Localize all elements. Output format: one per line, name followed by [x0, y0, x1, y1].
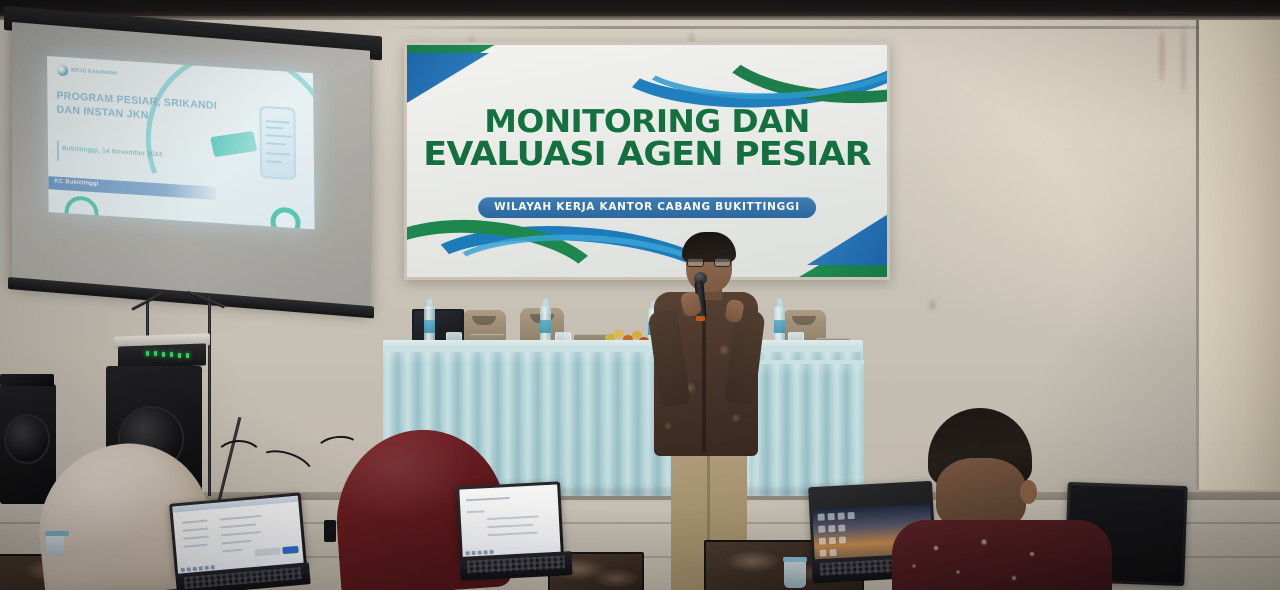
seminar-room-photo: BPJS Kesehatan PROGRAM PESIAR, SRIKANDI … [0, 0, 1280, 590]
slide-logo-mark-icon [57, 65, 68, 77]
wall-seam-line [380, 26, 1280, 29]
pa-speaker-horn [0, 374, 54, 386]
presentation-slide: BPJS Kesehatan PROGRAM PESIAR, SRIKANDI … [47, 56, 315, 229]
laptop-left-button-primary [282, 546, 299, 554]
presenter-shirt-placket [702, 300, 706, 452]
mixer-led [154, 351, 157, 356]
banner-title-line2: EVALUASI AGEN PESIAR [407, 138, 887, 171]
man-ear [1020, 480, 1037, 504]
drink-cup [784, 560, 806, 588]
pa-speaker-cone-left [4, 414, 50, 464]
man-batik-shirt [892, 520, 1112, 590]
eyeglasses-icon [687, 258, 731, 267]
cup-lid [783, 557, 807, 562]
head-table-skirt-right [752, 360, 864, 496]
slide-phone-illustration [259, 106, 296, 180]
mobile-phone [324, 520, 336, 542]
slide-subtitle-accent-bar [57, 141, 59, 161]
right-wall-panel [1199, 20, 1280, 490]
wall-mark [1160, 30, 1164, 82]
cup-lid [45, 531, 69, 536]
drink-cup-left [46, 534, 64, 556]
mixer-led [170, 352, 173, 357]
man-back-view [900, 408, 1096, 590]
laptop-center-keyboard [466, 556, 565, 574]
mixer-led [186, 353, 189, 358]
banner-corner-blue-bottomright [807, 211, 887, 265]
mixer-led [146, 351, 149, 356]
event-banner: MONITORING DAN EVALUASI AGEN PESIAR WILA… [404, 42, 890, 280]
laptop-left-screen [172, 496, 303, 575]
mixer-led [178, 353, 181, 358]
banner-corner-blue-topleft [407, 53, 489, 109]
wall-mark [930, 300, 935, 310]
laptop-center-screen [459, 484, 560, 557]
wall-corner-edge [1196, 20, 1199, 490]
wall-mark [1182, 24, 1185, 94]
banner-subtitle-pill: WILAYAH KERJA KANTOR CABANG BUKITTINGGI [478, 197, 816, 218]
mixer-led [162, 352, 165, 357]
banner-canvas: MONITORING DAN EVALUASI AGEN PESIAR WILA… [407, 45, 887, 277]
microphone-band [696, 316, 705, 321]
banner-title: MONITORING DAN EVALUASI AGEN PESIAR [407, 107, 887, 170]
mic-stand-pole-tall [208, 296, 211, 496]
slide-logo: BPJS Kesehatan [57, 65, 118, 80]
slide-logo-text: BPJS Kesehatan [71, 68, 118, 78]
laptop-left-button-secondary [254, 547, 281, 556]
laptop-center-lid [456, 481, 564, 560]
